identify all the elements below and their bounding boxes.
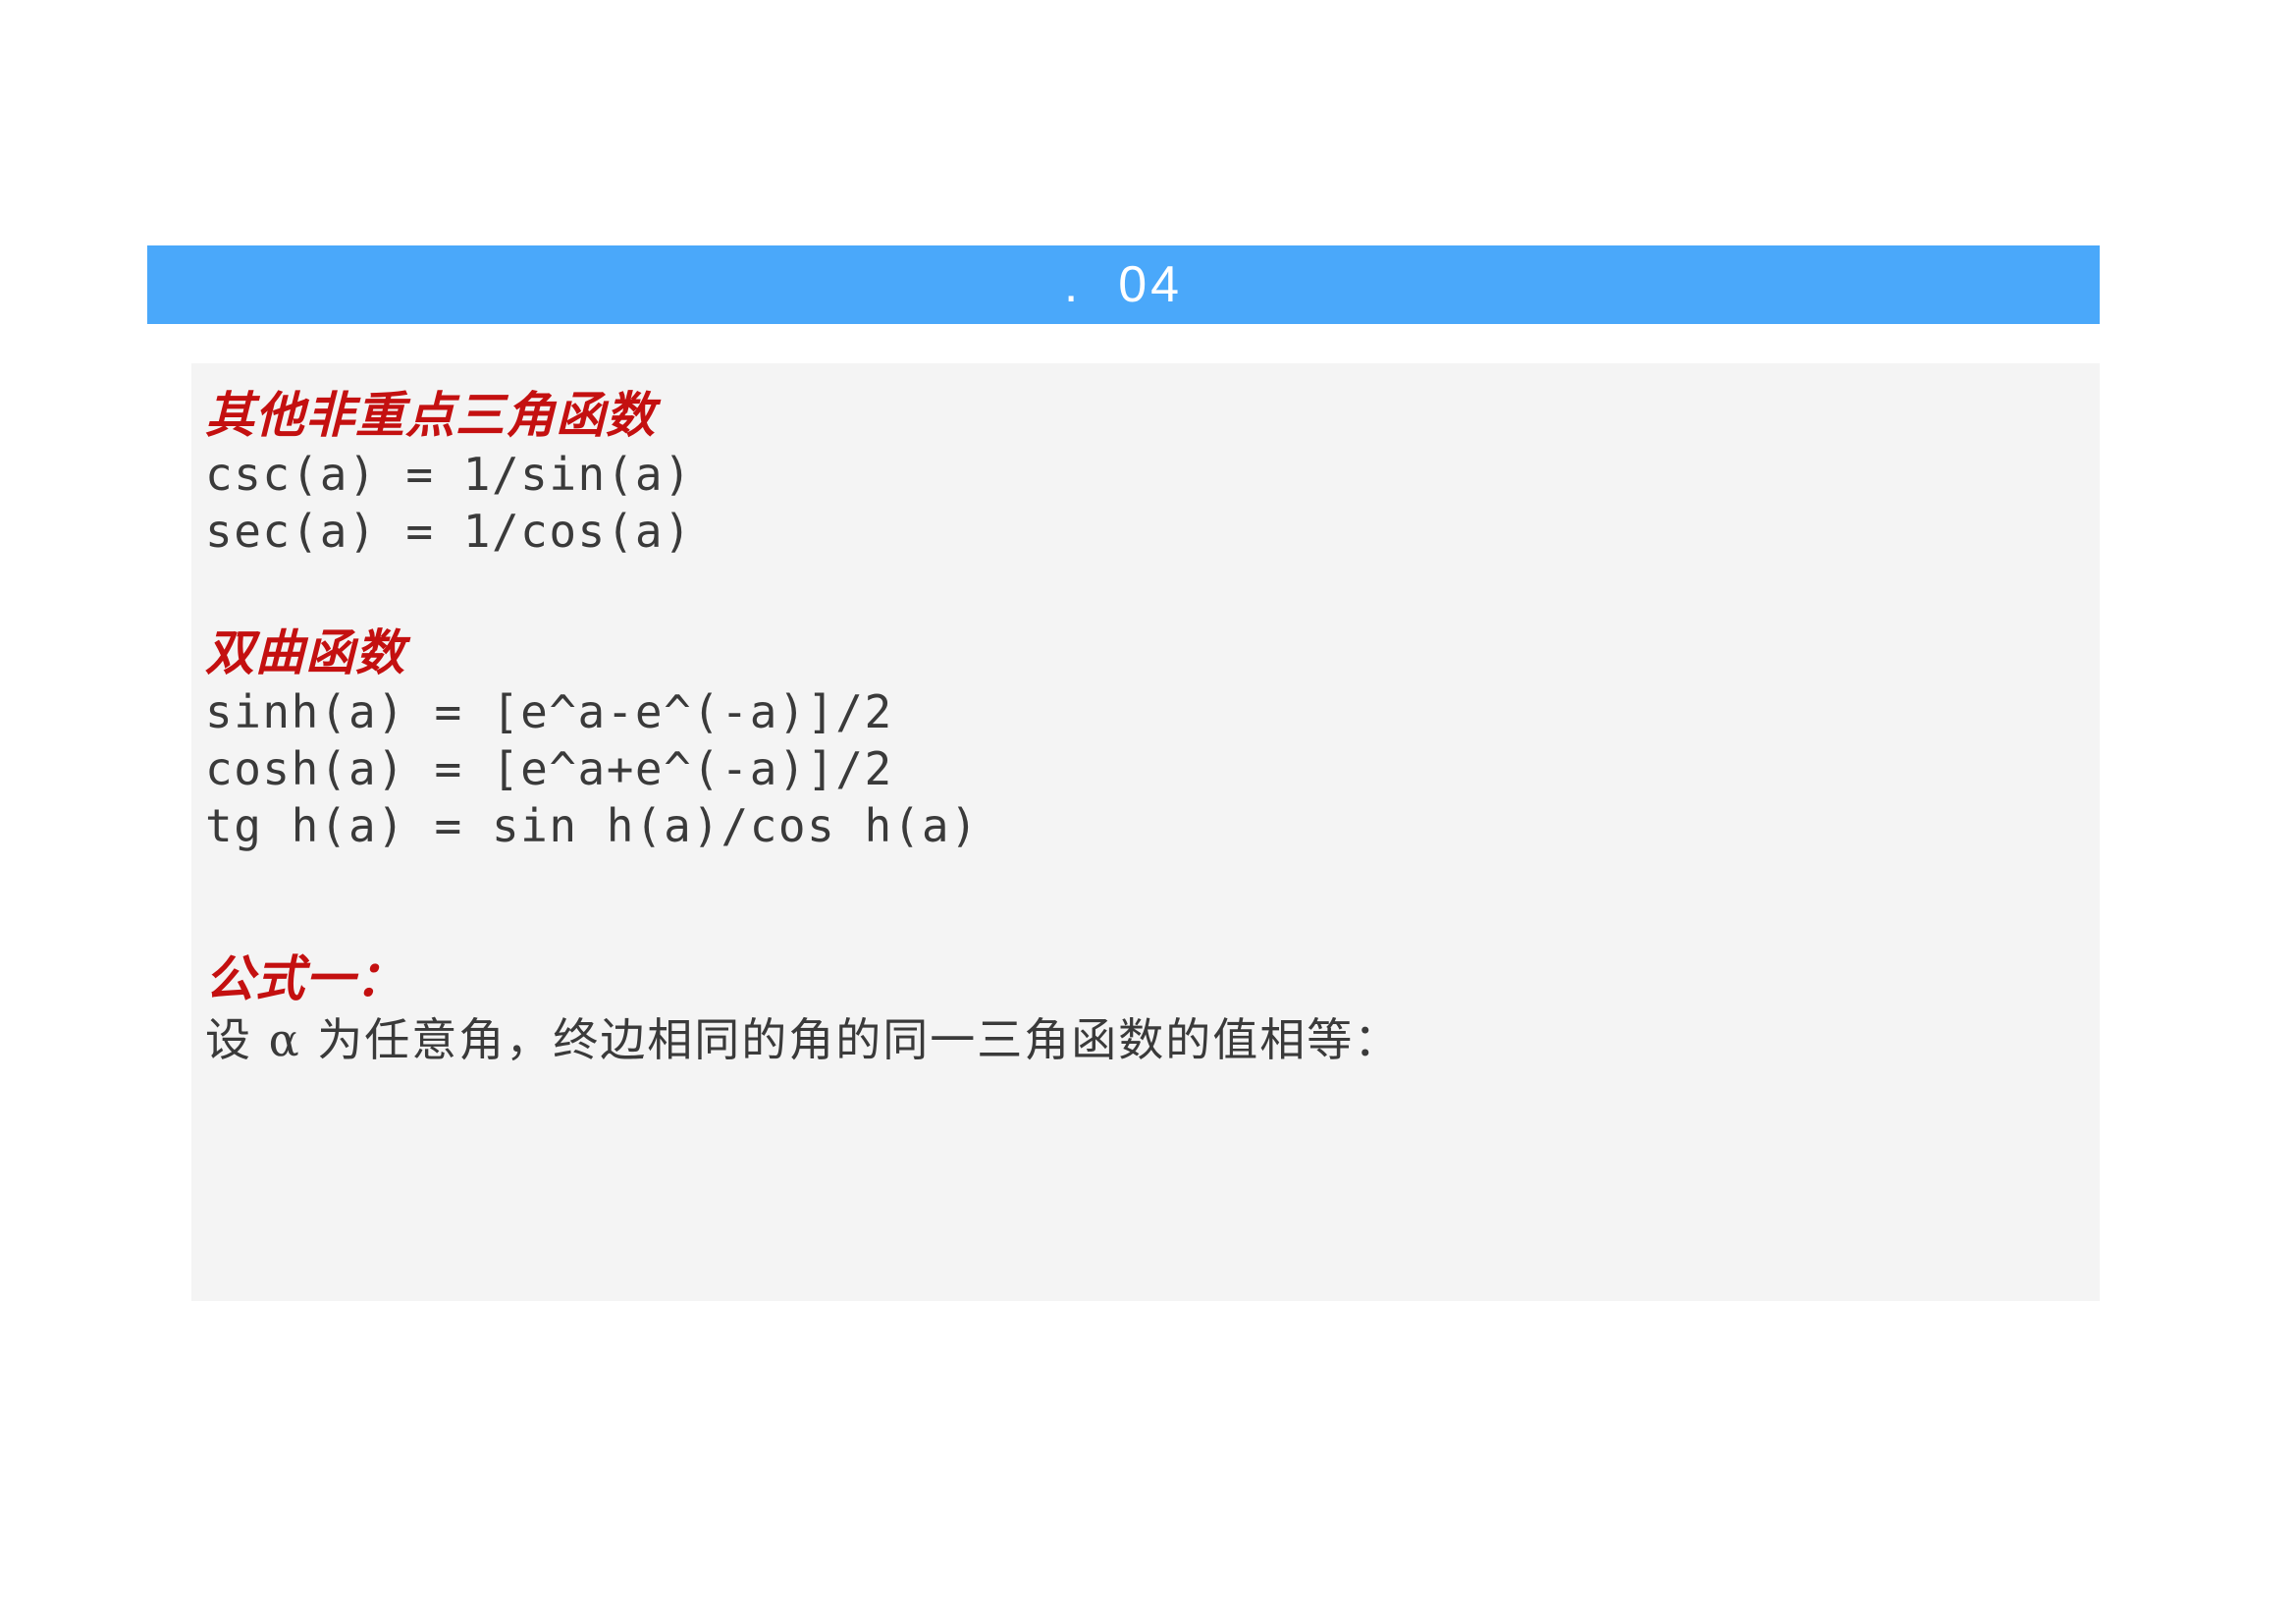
slide-title-text: . 04: [1064, 259, 1183, 310]
section-heading-hyperbolic: 双曲函数: [205, 623, 2100, 683]
section-hyperbolic-functions: 双曲函数 sinh(a) = [e^a-e^(-a)]/2 cosh(a) = …: [205, 623, 2100, 854]
section-spacer-1: [205, 560, 2100, 623]
content-panel: 其他非重点三角函数 csc(a) = 1/sin(a) sec(a) = 1/c…: [191, 363, 2100, 1301]
section-heading-other-trig: 其他非重点三角函数: [205, 385, 2100, 446]
slide-canvas: . 04 其他非重点三角函数 csc(a) = 1/sin(a) sec(a) …: [0, 0, 2296, 1624]
formula-cosh: cosh(a) = [e^a+e^(-a)]/2: [205, 740, 2100, 797]
formula-sec: sec(a) = 1/cos(a): [205, 503, 2100, 560]
formula-sinh: sinh(a) = [e^a-e^(-a)]/2: [205, 683, 2100, 740]
formula-csc: csc(a) = 1/sin(a): [205, 446, 2100, 503]
section-heading-formula-one: 公式一：: [205, 948, 2100, 1009]
formula-one-description: 设 α 为任意角，终边相同的角的同一三角函数的值相等：: [205, 1009, 2100, 1070]
formula-tanh: tg h(a) = sin h(a)/cos h(a): [205, 797, 2100, 854]
section-spacer-2: [205, 854, 2100, 948]
section-formula-one: 公式一： 设 α 为任意角，终边相同的角的同一三角函数的值相等：: [205, 948, 2100, 1070]
slide-title-bar: . 04: [147, 245, 2100, 324]
section-other-trig-functions: 其他非重点三角函数 csc(a) = 1/sin(a) sec(a) = 1/c…: [205, 385, 2100, 560]
